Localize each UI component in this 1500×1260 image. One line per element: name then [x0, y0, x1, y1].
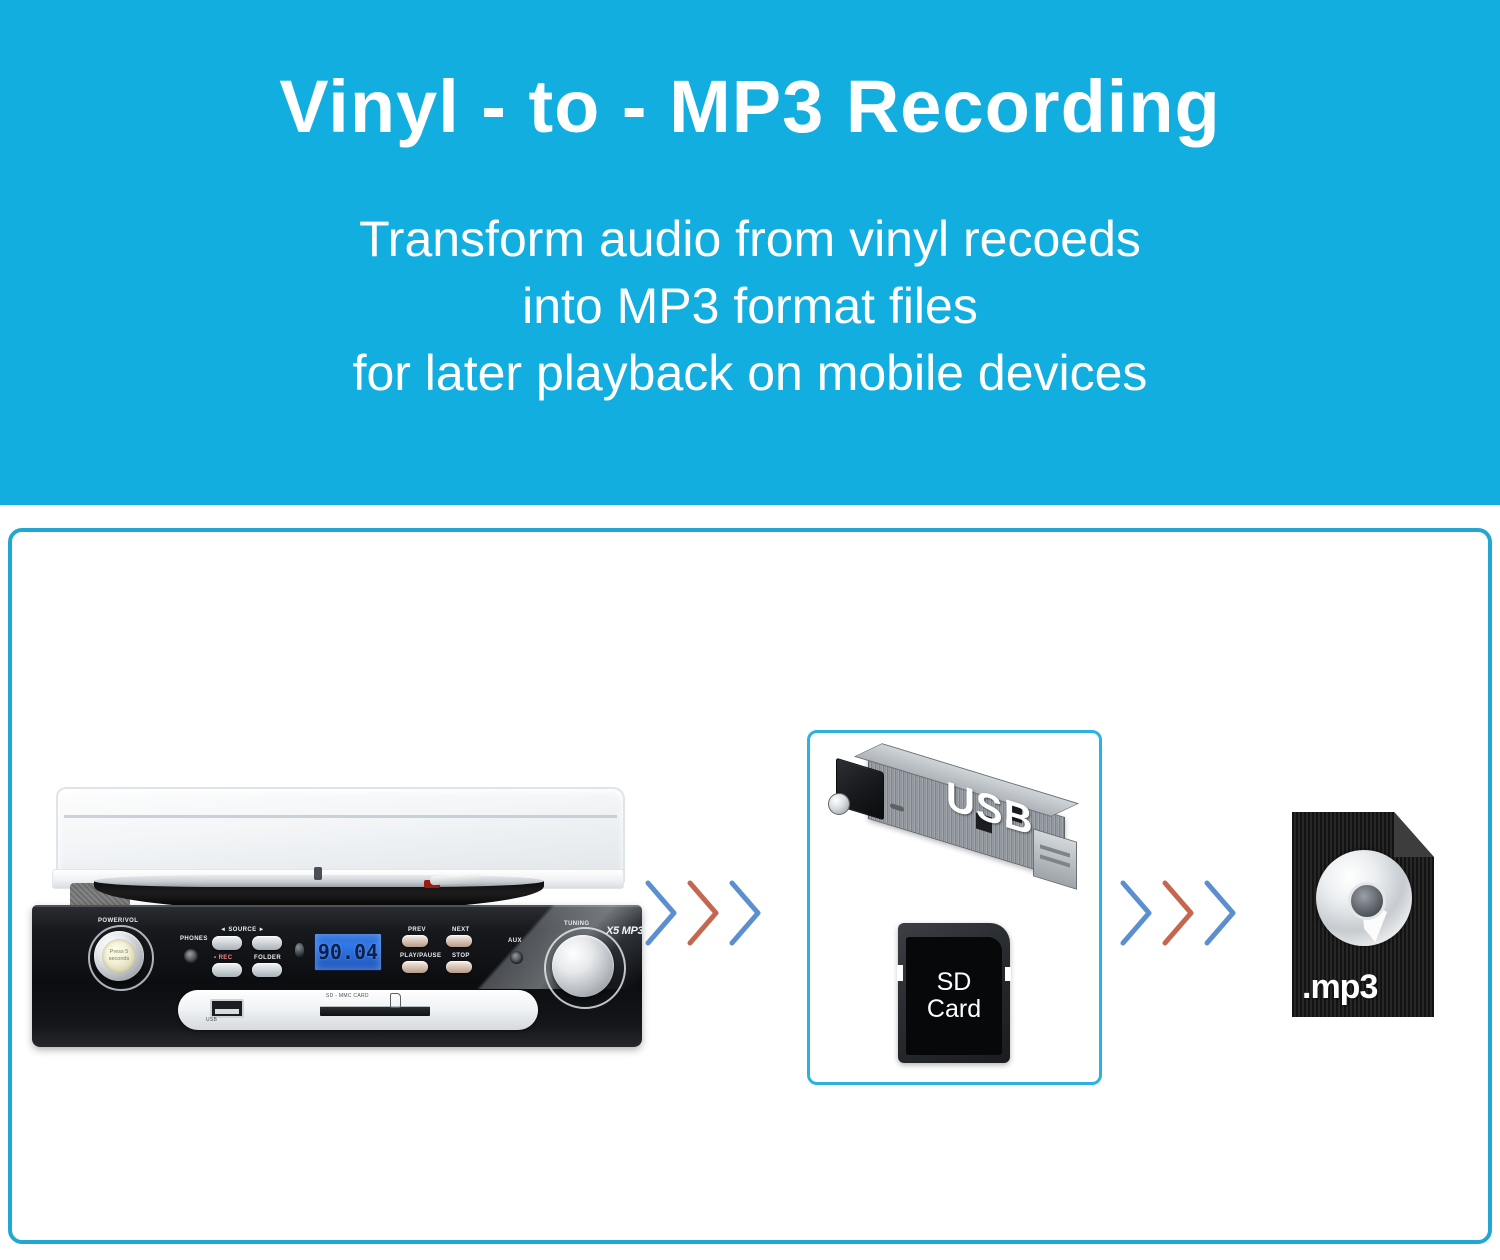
- tuning-knob[interactable]: [552, 935, 614, 997]
- chevron-right-icon: [1117, 877, 1157, 949]
- source-next-button[interactable]: [252, 936, 282, 950]
- chevron-right-icon: [1201, 877, 1241, 949]
- aux-label: AUX: [508, 938, 522, 944]
- chevron-right-icon: [1159, 877, 1199, 949]
- source-label: ◄ SOURCE ►: [220, 927, 265, 933]
- sd-card-notch: [897, 965, 903, 981]
- aux-input-jack[interactable]: [510, 951, 523, 964]
- rec-label: • REC: [214, 955, 232, 961]
- phones-label: PHONES: [180, 936, 208, 942]
- sd-card-label-line1: SD: [937, 969, 972, 997]
- rec-button[interactable]: [212, 963, 242, 977]
- port-strip: USB SD - MMC CARD: [178, 990, 538, 1030]
- subtitle-line-2: into MP3 format files: [353, 273, 1148, 340]
- sd-card-label-line2: Card: [927, 996, 981, 1024]
- turntable-control-panel: POWER/VOL Press 5 seconds PHONES ◄ SOURC…: [32, 905, 642, 1047]
- headphone-jack[interactable]: [184, 949, 198, 963]
- subtitle-block: Transform audio from vinyl recoeds into …: [353, 206, 1148, 407]
- mp3-file-icon: .mp3: [1292, 812, 1434, 1017]
- usb-flash-drive-icon: USB: [828, 757, 1083, 917]
- file-extension-label: .mp3: [1302, 968, 1377, 1007]
- chevron-right-icon: [642, 877, 682, 949]
- sd-card-face: SD Card: [906, 937, 1002, 1055]
- sd-card-notch: [1005, 967, 1011, 981]
- header-banner: Vinyl - to - MP3 Recording Transform aud…: [0, 0, 1500, 505]
- spindle-icon: [314, 867, 322, 880]
- diagram-panel: POWER/VOL Press 5 seconds PHONES ◄ SOURC…: [8, 528, 1492, 1244]
- usb-port-caption: USB: [206, 1017, 217, 1023]
- lcd-display: 90.04: [314, 933, 382, 971]
- flow-diagram: POWER/VOL Press 5 seconds PHONES ◄ SOURC…: [12, 532, 1488, 1240]
- play-pause-button[interactable]: [402, 961, 428, 973]
- source-prev-button[interactable]: [212, 936, 242, 950]
- usb-keyring: [828, 793, 850, 815]
- prev-button[interactable]: [402, 935, 428, 947]
- usb-port[interactable]: [210, 999, 244, 1018]
- power-vol-label: POWER/VOL: [98, 918, 138, 924]
- sd-card-icon: [390, 993, 401, 1008]
- chevron-right-icon: [726, 877, 766, 949]
- subtitle-line-1: Transform audio from vinyl recoeds: [353, 206, 1148, 273]
- folder-label: FOLDER: [254, 955, 281, 961]
- flow-arrow-group-1: [642, 877, 766, 949]
- stop-button[interactable]: [446, 961, 472, 973]
- sd-slot-caption: SD - MMC CARD: [326, 994, 369, 1000]
- prev-label: PREV: [408, 927, 426, 933]
- play-pause-label: PLAY/PAUSE: [400, 953, 441, 959]
- ir-sensor-icon: [295, 943, 304, 957]
- next-label: NEXT: [452, 927, 470, 933]
- turntable-product-image: POWER/VOL Press 5 seconds PHONES ◄ SOURC…: [32, 787, 642, 1047]
- brand-logo: X5 MP3: [606, 925, 642, 937]
- flow-arrow-group-2: [1117, 877, 1241, 949]
- lcd-value: 90.04: [318, 940, 378, 964]
- sd-card-slot[interactable]: [320, 1006, 430, 1016]
- stop-label: STOP: [452, 953, 470, 959]
- subtitle-line-3: for later playback on mobile devices: [353, 340, 1148, 407]
- next-button[interactable]: [446, 935, 472, 947]
- sd-card-icon: SD Card: [898, 923, 1010, 1063]
- folder-button[interactable]: [252, 963, 282, 977]
- storage-media-box: USB SD Card: [807, 730, 1102, 1085]
- power-knob-hint-label[interactable]: Press 5 seconds: [102, 939, 136, 973]
- disc-hub: [1348, 882, 1386, 920]
- chevron-right-icon: [684, 877, 724, 949]
- page-title: Vinyl - to - MP3 Recording: [279, 70, 1221, 144]
- file-corner-fold: [1394, 812, 1434, 857]
